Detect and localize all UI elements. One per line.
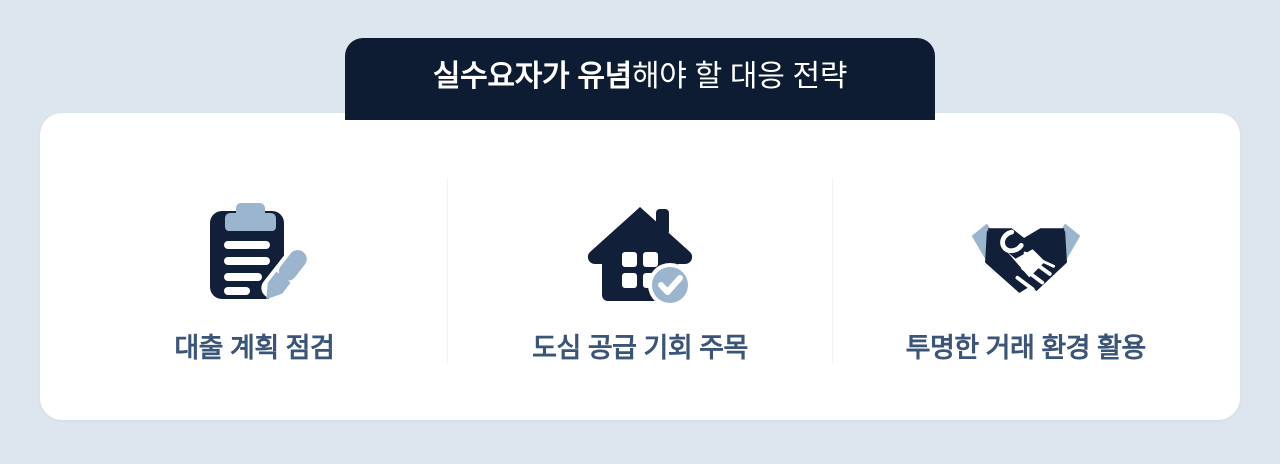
handshake-icon bbox=[966, 193, 1086, 313]
page-title: 실수요자가 유념해야 할 대응 전략 bbox=[433, 62, 847, 96]
strategy-item-label: 대출 계획 점검 bbox=[174, 335, 334, 362]
strategy-item-loan-plan[interactable]: 대출 계획 점검 bbox=[62, 113, 447, 420]
strategy-item-label: 투명한 거래 환경 활용 bbox=[906, 335, 1146, 362]
infographic-stage: 실수요자가 유념해야 할 대응 전략 bbox=[0, 0, 1280, 464]
house-check-icon bbox=[580, 193, 700, 313]
header-badge: 실수요자가 유념해야 할 대응 전략 bbox=[345, 38, 935, 120]
strategy-item-urban-supply[interactable]: 도심 공급 기회 주목 bbox=[448, 113, 833, 420]
strategy-item-transparent-trade[interactable]: 투명한 거래 환경 활용 bbox=[833, 113, 1218, 420]
page-title-light: 해야 할 대응 전략 bbox=[632, 60, 847, 93]
strategy-card: 대출 계획 점검 bbox=[40, 113, 1240, 420]
page-title-strong: 실수요자가 유념 bbox=[433, 60, 632, 93]
clipboard-pencil-icon bbox=[194, 193, 314, 313]
strategy-item-label: 도심 공급 기회 주목 bbox=[532, 335, 748, 362]
